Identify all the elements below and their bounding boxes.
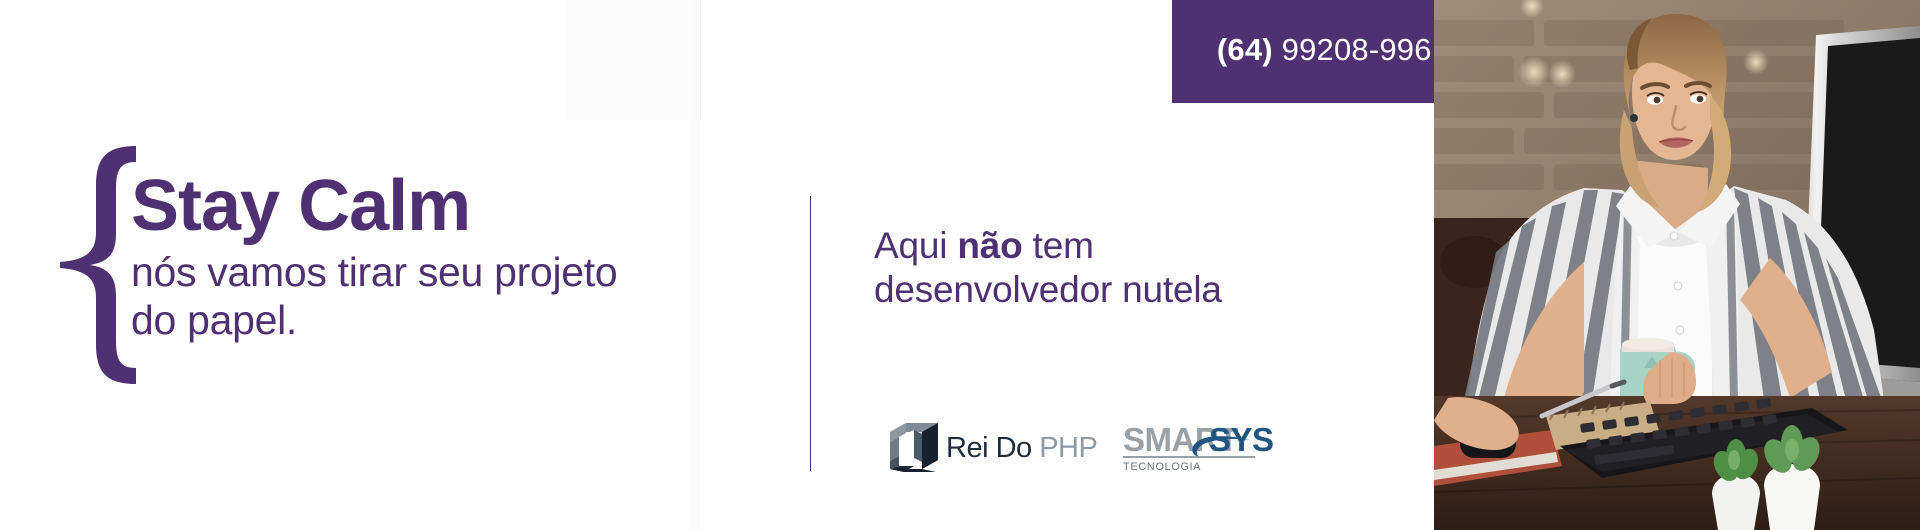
phone-number: 99208-9961: [1273, 32, 1449, 67]
page-title: Stay Calm: [131, 168, 691, 244]
headline-subtitle: nós vamos tirar seu projeto do papel.: [131, 248, 691, 344]
headline-block: Stay Calm nós vamos tirar seu projeto do…: [131, 168, 691, 344]
logo-rei-do-php-primary: Rei Do: [946, 432, 1032, 464]
vertical-divider: [810, 196, 811, 471]
tagline-block: Aqui não tem desenvolvedor nutela: [874, 224, 1294, 312]
cube-icon: [888, 422, 940, 474]
tagline-part-2: tem: [1023, 225, 1094, 266]
hero-photo: [1434, 0, 1920, 530]
headline-subtitle-line-2: do papel.: [131, 296, 691, 344]
background-seam: [565, 0, 701, 120]
logo-rei-do-php[interactable]: Rei Do PHP: [888, 422, 1097, 474]
tagline-line-2: desenvolvedor nutela: [874, 268, 1294, 312]
logo-rei-do-php-text: Rei Do PHP: [946, 434, 1097, 463]
logo-smartsys[interactable]: SMART SYS TECNOLOGIA: [1123, 418, 1273, 474]
background-seam-secondary: [690, 0, 700, 530]
tagline-line-1: Aqui não tem: [874, 224, 1294, 268]
headline-subtitle-line-1: nós vamos tirar seu projeto: [131, 248, 691, 296]
logo-strip: Rei Do PHP SMART SYS TECNOLOGIA: [888, 418, 1273, 474]
phone-area-code: (64): [1217, 32, 1273, 67]
promo-banner: (64) 99208-9961 Stay Calm nós vamos tira…: [0, 0, 1920, 530]
logo-smartsys-secondary-text: SYS: [1209, 421, 1273, 458]
phone-number-text: (64) 99208-9961: [1217, 32, 1449, 68]
tagline-emphasis: não: [957, 225, 1022, 266]
logo-smartsys-tagline: TECNOLOGIA: [1123, 461, 1201, 473]
logo-rei-do-php-secondary: PHP: [1039, 432, 1097, 464]
curly-brace-icon: [44, 140, 139, 390]
tagline-part-1: Aqui: [874, 225, 957, 266]
